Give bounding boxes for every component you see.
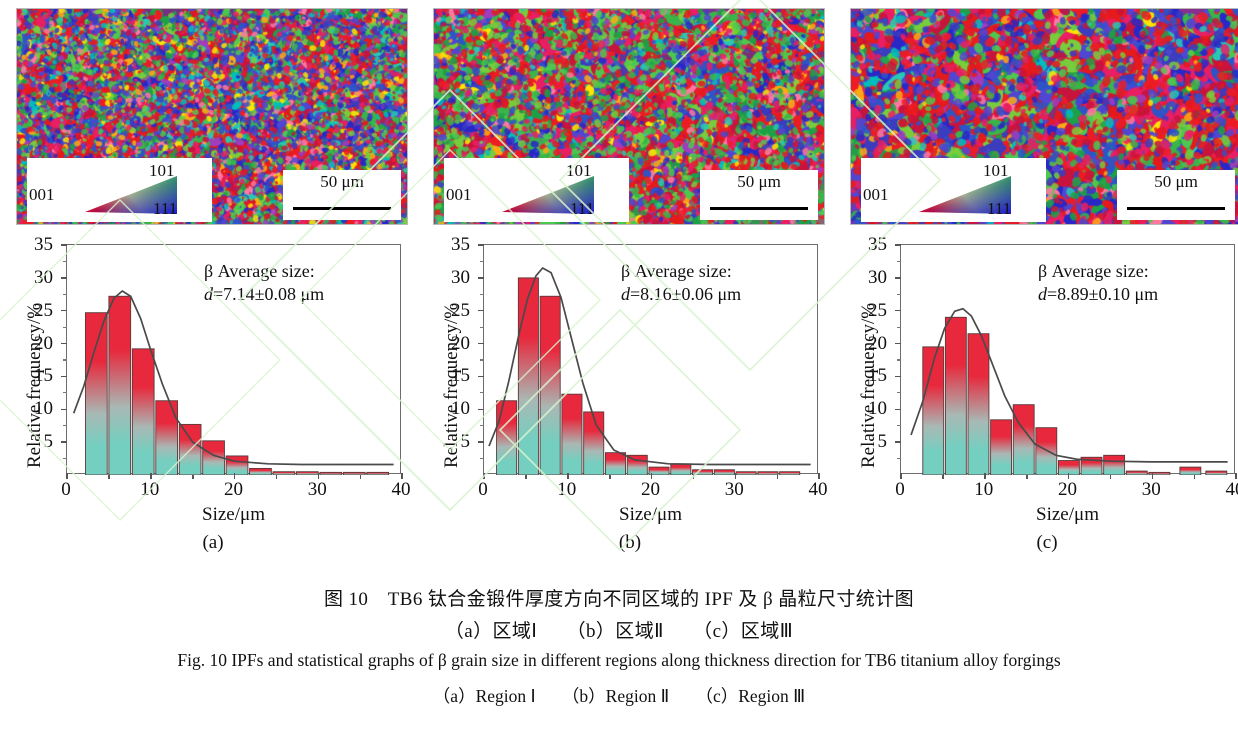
annotation-line-2: d=8.16±0.06 μm <box>621 283 741 306</box>
y-axis-tick <box>895 244 901 246</box>
y-axis-minor-tick <box>897 294 901 295</box>
y-axis-minor-tick <box>897 261 901 262</box>
annotation-d-value: =8.89±0.10 μm <box>1047 284 1158 304</box>
grain-size-histogram-a: 5101520253035010203040Relative frequency… <box>8 232 418 522</box>
y-axis-tick <box>61 409 67 411</box>
histogram-bar <box>923 347 944 475</box>
x-axis-minor-tick <box>609 475 611 479</box>
y-axis-tick-label: 30 <box>7 268 53 287</box>
subfigure-label-b: (b) <box>425 532 835 554</box>
y-axis-minor-tick <box>63 425 67 426</box>
x-axis-minor-tick <box>1026 475 1028 479</box>
y-axis-tick <box>895 376 901 378</box>
x-axis-tick-label: 0 <box>453 480 513 499</box>
x-axis-title: Size/μm <box>900 504 1235 526</box>
scale-bar-b: 50 μm <box>700 170 818 220</box>
y-axis-tick-label: 30 <box>841 268 887 287</box>
ipf-label-101: 101 <box>149 162 175 179</box>
scale-bar-line <box>710 207 808 210</box>
x-axis-tick-label: 10 <box>537 480 597 499</box>
x-axis-tick-label: 20 <box>204 480 264 499</box>
ipf-colour-key-c: 001101111 <box>861 158 1046 222</box>
annotation-line-1: β Average size: <box>621 260 741 283</box>
y-axis-title: Relative frequency/% <box>24 303 46 468</box>
histogram-bar <box>1036 428 1057 475</box>
x-axis-minor-tick <box>777 475 779 479</box>
ipf-label-101: 101 <box>566 162 592 179</box>
scale-bar-a: 50 μm <box>283 170 401 220</box>
x-axis-tick-label: 10 <box>120 480 180 499</box>
histogram-bar <box>85 313 107 475</box>
x-axis-tick-label: 20 <box>621 480 681 499</box>
subfigure-label-c: (c) <box>842 532 1238 554</box>
y-axis-minor-tick <box>480 327 484 328</box>
figure-caption-chinese-subtitle: （a）区域Ⅰ （b）区域Ⅱ （c）区域Ⅲ <box>0 616 1238 643</box>
y-axis-tick <box>61 441 67 443</box>
annotation-d-value: =8.16±0.06 μm <box>630 284 741 304</box>
y-axis-tick <box>478 310 484 312</box>
ipf-label-111: 111 <box>987 200 1011 217</box>
annotation-line-2: d=8.89±0.10 μm <box>1038 283 1158 306</box>
figure-caption-english-title: Fig. 10 IPFs and statistical graphs of β… <box>0 650 1238 671</box>
histogram-bar <box>497 401 517 475</box>
y-axis-minor-tick <box>897 392 901 393</box>
histogram-bar <box>1126 471 1147 475</box>
y-axis-minor-tick <box>480 294 484 295</box>
scale-bar-line <box>293 207 391 210</box>
grain-size-histogram-b: 5101520253035010203040Relative frequency… <box>425 232 835 522</box>
y-axis-minor-tick <box>480 425 484 426</box>
y-axis-tick <box>895 343 901 345</box>
ebsd-ipf-micrograph-c: 00110111150 μm <box>850 8 1238 225</box>
x-axis-minor-tick <box>192 475 194 479</box>
y-axis-minor-tick <box>480 392 484 393</box>
histogram-bar <box>296 472 318 475</box>
scale-bar-label: 50 μm <box>283 172 401 192</box>
x-axis-minor-tick <box>360 475 362 479</box>
annotation-d-symbol: d <box>621 284 630 304</box>
x-axis-minor-tick <box>525 475 527 479</box>
histogram-bar <box>945 317 966 475</box>
annotation-line-2: d=7.14±0.08 μm <box>204 283 324 306</box>
x-axis-minor-tick <box>1110 475 1112 479</box>
histogram-bar <box>736 472 756 475</box>
histogram-bar <box>250 468 272 475</box>
histogram-bar <box>179 424 201 475</box>
ipf-label-001: 001 <box>29 186 55 203</box>
y-axis-tick-label: 35 <box>424 235 470 254</box>
x-axis-tick-label: 20 <box>1038 480 1098 499</box>
x-axis-minor-tick <box>1194 475 1196 479</box>
figure-panel-b: 00110111150 μm5101520253035010203040Rela… <box>425 0 835 565</box>
y-axis-tick <box>478 441 484 443</box>
histogram-bar <box>343 472 365 475</box>
y-axis-title: Relative frequency/% <box>441 303 463 468</box>
x-axis-minor-tick <box>276 475 278 479</box>
ebsd-ipf-micrograph-b: 00110111150 μm <box>433 8 825 225</box>
y-axis-minor-tick <box>63 458 67 459</box>
histogram-bar <box>991 420 1012 475</box>
annotation-line-1: β Average size: <box>1038 260 1158 283</box>
histogram-bar <box>540 296 560 475</box>
y-axis-tick-label: 35 <box>841 235 887 254</box>
y-axis-tick <box>478 244 484 246</box>
x-axis-tick-label: 0 <box>36 480 96 499</box>
histogram-bars <box>923 317 1227 475</box>
y-axis-minor-tick <box>63 294 67 295</box>
x-axis-tick-label: 30 <box>1121 480 1181 499</box>
annotation-d-value: =7.14±0.08 μm <box>213 284 324 304</box>
histogram-bar <box>1206 471 1227 475</box>
x-axis-tick-label: 30 <box>287 480 347 499</box>
histogram-bar <box>693 470 713 475</box>
x-axis-tick-label: 40 <box>371 480 431 499</box>
x-axis-title: Size/μm <box>483 504 818 526</box>
y-axis-minor-tick <box>63 327 67 328</box>
y-axis-tick <box>61 343 67 345</box>
x-axis-minor-tick <box>693 475 695 479</box>
histogram-bar <box>671 464 691 475</box>
y-axis-minor-tick <box>897 425 901 426</box>
annotation-d-symbol: d <box>1038 284 1047 304</box>
histogram-bar <box>780 472 800 475</box>
ipf-label-001: 001 <box>863 186 889 203</box>
x-axis-tick-label: 0 <box>870 480 930 499</box>
y-axis-minor-tick <box>480 359 484 360</box>
y-axis-tick <box>478 343 484 345</box>
y-axis-tick-label: 30 <box>424 268 470 287</box>
scale-bar-c: 50 μm <box>1117 170 1235 220</box>
y-axis-minor-tick <box>480 261 484 262</box>
figure-panel-a: 00110111150 μm5101520253035010203040Rela… <box>8 0 418 565</box>
x-axis-minor-tick <box>942 475 944 479</box>
ebsd-ipf-micrograph-a: 00110111150 μm <box>16 8 408 225</box>
scale-bar-line <box>1127 207 1225 210</box>
average-size-annotation: β Average size:d=8.16±0.06 μm <box>621 260 741 306</box>
figure-caption-english-subtitle: （a）Region Ⅰ （b）Region Ⅱ （c）Region Ⅲ <box>0 683 1238 708</box>
y-axis-minor-tick <box>897 359 901 360</box>
figure-caption-chinese-title: 图 10 TB6 钛合金锻件厚度方向不同区域的 IPF 及 β 晶粒尺寸统计图 <box>0 584 1238 611</box>
average-size-annotation: β Average size:d=8.89±0.10 μm <box>1038 260 1158 306</box>
ipf-colour-key-a: 001101111 <box>27 158 212 222</box>
ipf-label-101: 101 <box>983 162 1009 179</box>
y-axis-tick <box>895 310 901 312</box>
y-axis-minor-tick <box>897 327 901 328</box>
scale-bar-label: 50 μm <box>700 172 818 192</box>
figure-panel-c: 00110111150 μm5101520253035010203040Rela… <box>842 0 1238 565</box>
x-axis-tick-label: 30 <box>704 480 764 499</box>
y-axis-minor-tick <box>63 359 67 360</box>
y-axis-tick <box>61 277 67 279</box>
y-axis-minor-tick <box>63 392 67 393</box>
x-axis-tick-label: 40 <box>788 480 848 499</box>
y-axis-tick <box>895 441 901 443</box>
ipf-label-111: 111 <box>570 200 594 217</box>
x-axis-title: Size/μm <box>66 504 401 526</box>
y-axis-minor-tick <box>63 261 67 262</box>
y-axis-tick <box>478 409 484 411</box>
y-axis-tick <box>61 310 67 312</box>
histogram-bar <box>226 456 248 475</box>
ipf-label-111: 111 <box>153 200 177 217</box>
annotation-line-1: β Average size: <box>204 260 324 283</box>
y-axis-title: Relative frequency/% <box>858 303 880 468</box>
average-size-annotation: β Average size:d=7.14±0.08 μm <box>204 260 324 306</box>
ipf-colour-key-b: 001101111 <box>444 158 629 222</box>
x-axis-minor-tick <box>108 475 110 479</box>
histogram-bar <box>758 472 778 475</box>
histogram-bar <box>562 394 582 475</box>
histogram-bar <box>605 453 625 475</box>
grain-size-histogram-c: 5101520253035010203040Relative frequency… <box>842 232 1238 522</box>
histogram-bar <box>132 349 154 475</box>
y-axis-tick <box>895 277 901 279</box>
histogram-bar <box>518 278 538 475</box>
y-axis-tick <box>895 409 901 411</box>
y-axis-minor-tick <box>897 458 901 459</box>
ipf-label-001: 001 <box>446 186 472 203</box>
histogram-bar <box>1180 467 1201 475</box>
y-axis-tick-label: 35 <box>7 235 53 254</box>
histogram-bar <box>714 470 734 475</box>
annotation-d-symbol: d <box>204 284 213 304</box>
histogram-bar <box>320 472 342 475</box>
histogram-bar <box>968 334 989 475</box>
histogram-bars <box>85 296 388 475</box>
y-axis-tick <box>478 277 484 279</box>
y-axis-tick <box>478 376 484 378</box>
y-axis-tick <box>61 244 67 246</box>
x-axis-tick-label: 40 <box>1205 480 1238 499</box>
scale-bar-label: 50 μm <box>1117 172 1235 192</box>
subfigure-label-a: (a) <box>8 532 418 554</box>
y-axis-tick <box>61 376 67 378</box>
histogram-bar <box>109 296 131 475</box>
y-axis-minor-tick <box>480 458 484 459</box>
histogram-bar <box>367 472 389 475</box>
histogram-bars <box>497 278 800 475</box>
histogram-bar <box>584 412 604 475</box>
histogram-bar <box>1104 455 1125 475</box>
x-axis-tick-label: 10 <box>954 480 1014 499</box>
